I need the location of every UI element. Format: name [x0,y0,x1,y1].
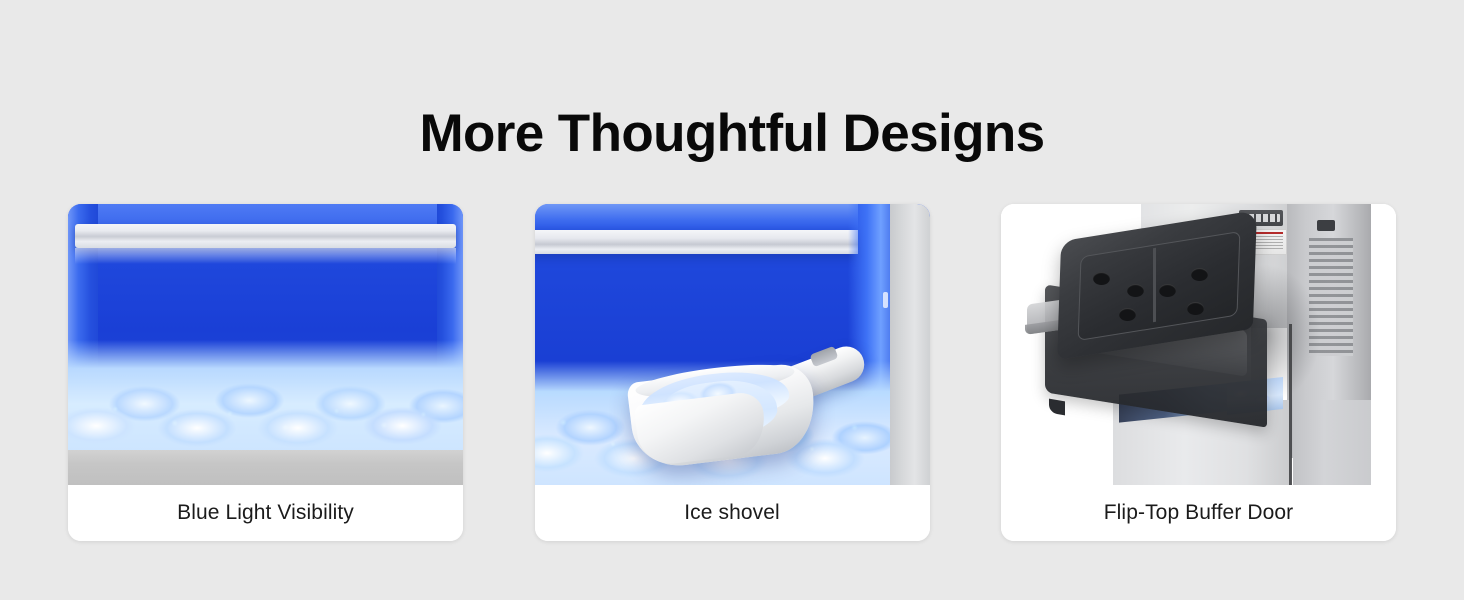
card-caption-ice-shovel: Ice shovel [535,485,930,541]
flip-top-buffer-door-image [1001,204,1396,485]
led-light-glow [535,204,858,230]
ice-shovel-image [535,204,930,485]
cabinet-frame-panel [890,204,930,485]
promo-banner: More Thoughtful Designs Blue Light Visib… [0,0,1464,600]
led-light-glow [75,248,456,264]
door-vent-hole [1191,268,1208,281]
door-vent-hole [1159,284,1176,297]
card-caption-blue-light-visibility: Blue Light Visibility [68,485,463,541]
led-light-strip [535,230,858,254]
door-vent-hole [1187,302,1204,315]
feature-card-grid: Blue Light Visibility [68,204,1396,541]
cabinet-latch [883,292,888,308]
blue-light-visibility-image [68,204,463,485]
feature-card-flip-top-buffer-door[interactable]: Flip-Top Buffer Door [1001,204,1396,541]
machine-body-seam [1289,324,1292,485]
page-title: More Thoughtful Designs [0,102,1464,166]
flip-top-door-rib [1153,248,1156,323]
led-light-strip [75,224,456,248]
feature-card-ice-shovel[interactable]: Ice shovel [535,204,930,541]
card-caption-flip-top-buffer-door: Flip-Top Buffer Door [1001,485,1396,541]
door-vent-hole [1093,272,1110,285]
door-vent-hole [1127,284,1144,297]
bin-base-panel [68,450,463,485]
sensor-icon [1317,220,1335,231]
door-vent-hole [1119,308,1136,321]
ice-sparkle-highlights [68,342,463,450]
feature-card-blue-light-visibility[interactable]: Blue Light Visibility [68,204,463,541]
ice-scoop-graphic [631,330,847,462]
machine-lower-body-right [1293,400,1371,485]
